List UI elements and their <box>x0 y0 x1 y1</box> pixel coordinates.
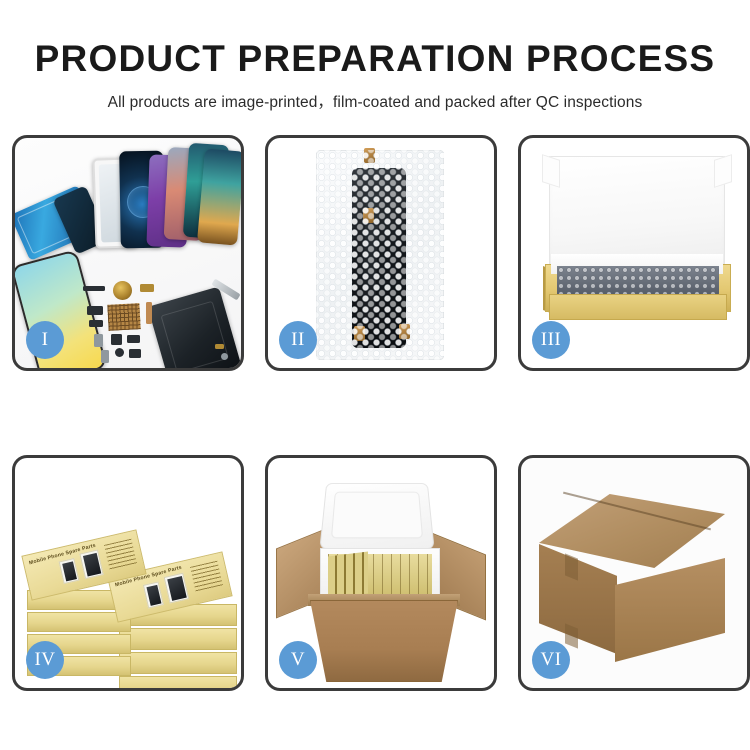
part-chip <box>127 335 140 343</box>
part-chip <box>94 334 103 347</box>
packed-boxes-edge <box>328 552 368 599</box>
part-chip <box>140 284 154 292</box>
process-step-grid: I II <box>12 135 738 690</box>
step-panel-4: Mobile Phone Spare Parts Mobile Phone Sp… <box>12 455 244 691</box>
product-preparation-infographic: PRODUCT PREPARATION PROCESS All products… <box>0 0 750 750</box>
carton-tape <box>565 623 578 648</box>
step-badge-3: III <box>532 321 570 359</box>
carton-body <box>310 600 458 682</box>
box-window <box>143 581 164 608</box>
box-spec-lines <box>190 561 223 593</box>
step-panel-5: V <box>265 455 497 691</box>
copper-mesh-part <box>107 303 140 331</box>
box-window <box>79 549 103 579</box>
part-chip <box>221 353 228 360</box>
part-chip <box>111 334 122 345</box>
step-badge-4: IV <box>26 641 64 679</box>
carton-tape <box>565 553 578 580</box>
header: PRODUCT PREPARATION PROCESS All products… <box>0 0 750 112</box>
page-subtitle: All products are image-printed，film-coat… <box>0 90 750 112</box>
step-badge-5: V <box>279 641 317 679</box>
foam-lid <box>319 483 434 549</box>
stacked-box <box>119 676 237 688</box>
part-chip <box>146 302 152 324</box>
step-badge-6: VI <box>532 641 570 679</box>
step-badge-2: II <box>279 321 317 359</box>
step-panel-3: III <box>518 135 750 371</box>
part-chip <box>115 348 124 357</box>
carton-left-face <box>539 544 617 654</box>
box-window <box>164 573 190 604</box>
part-chip <box>89 320 103 327</box>
stacked-box <box>119 652 237 674</box>
phone-screen-gold <box>197 148 241 245</box>
step-panel-1: I <box>12 135 244 371</box>
box-front-panel <box>549 294 727 320</box>
step-badge-1: I <box>26 321 64 359</box>
speaker-coil-part <box>113 281 132 300</box>
part-chip <box>215 344 224 349</box>
part-chip <box>129 349 141 358</box>
part-chip <box>83 286 105 291</box>
box-window <box>59 558 80 584</box>
part-chip <box>101 350 109 363</box>
bubble-texture <box>316 150 444 360</box>
part-chip <box>87 306 103 315</box>
stacked-box <box>119 628 237 650</box>
page-title: PRODUCT PREPARATION PROCESS <box>0 40 750 79</box>
step-panel-6: VI <box>518 455 750 691</box>
box-spec-lines <box>104 539 137 571</box>
carton-right-face <box>615 558 725 662</box>
step-panel-2: II <box>265 135 497 371</box>
bubble-wrapped-units <box>557 266 719 296</box>
